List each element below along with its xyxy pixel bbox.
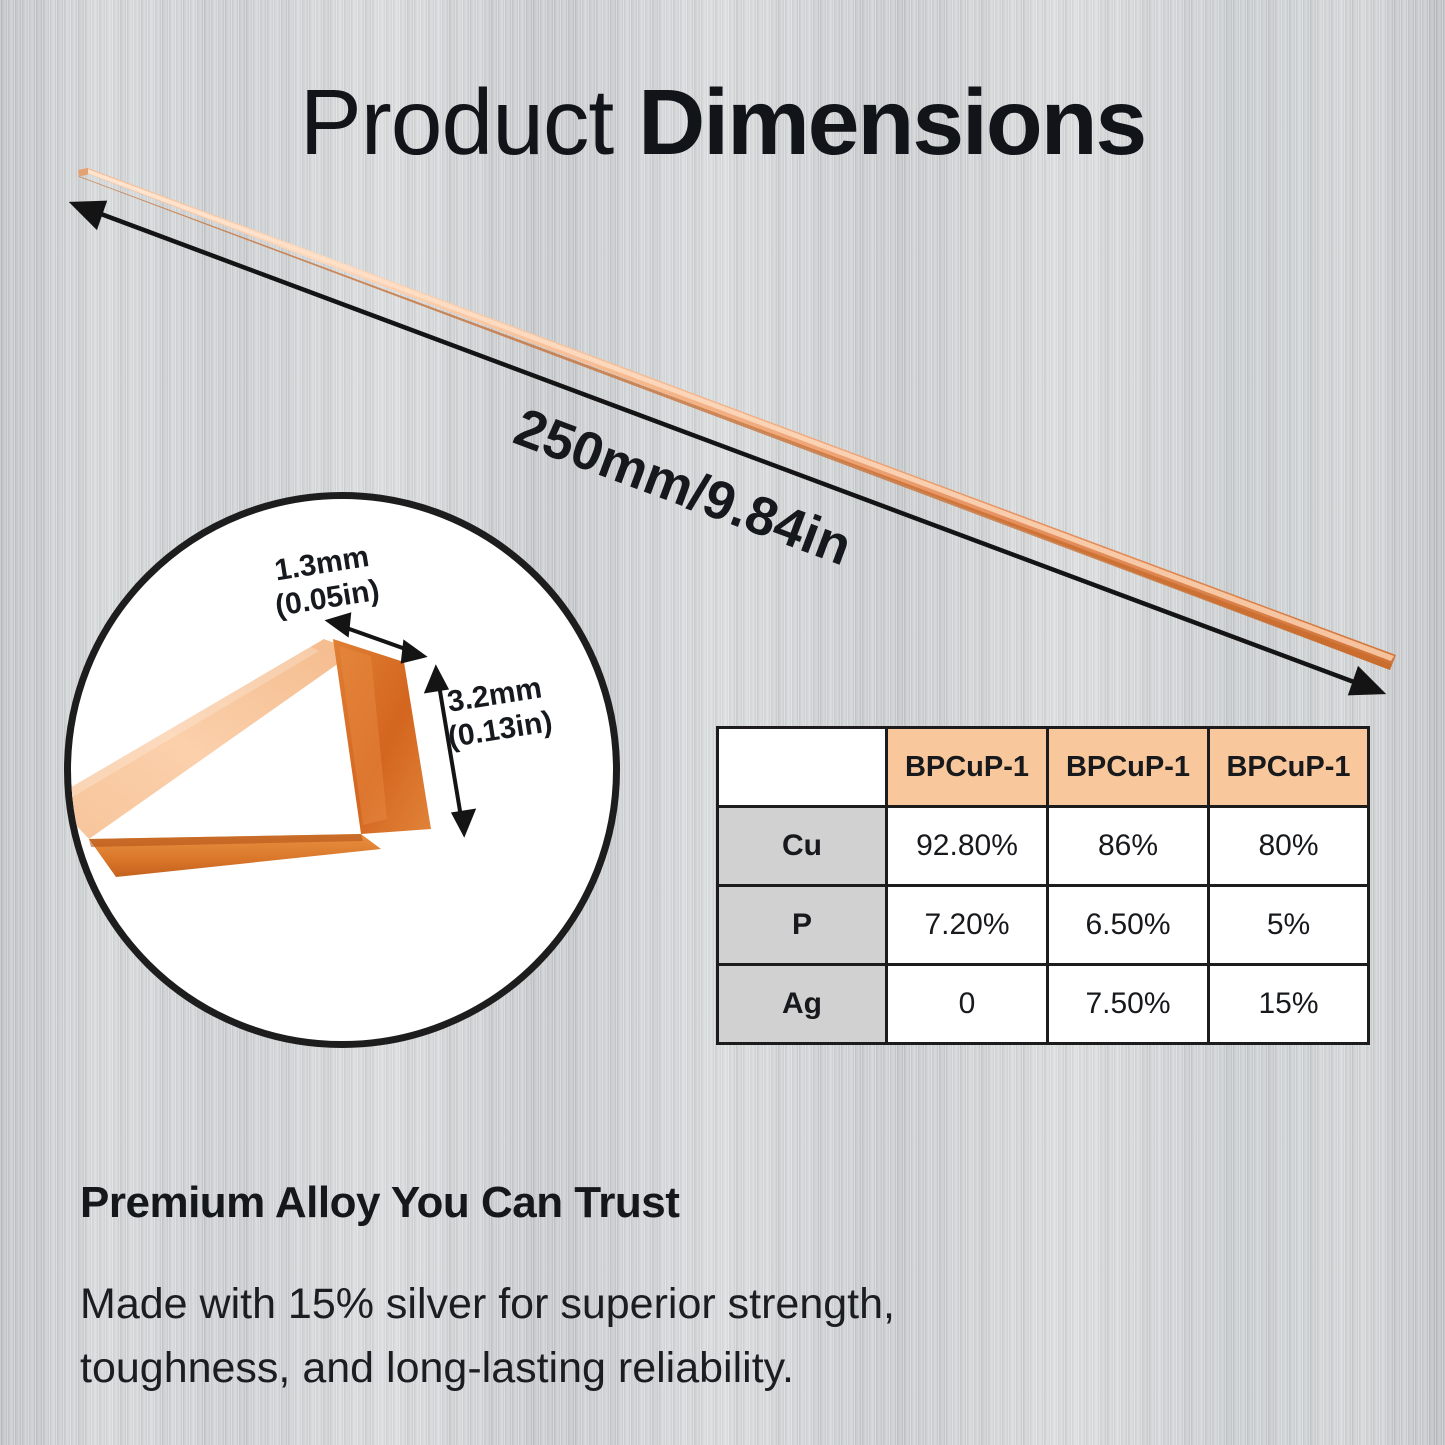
table-row: Ag 0 7.50% 15% xyxy=(718,965,1369,1044)
cell-ag-col3: 15% xyxy=(1209,965,1369,1044)
feature-body-line-1: Made with 15% silver for superior streng… xyxy=(80,1280,895,1328)
feature-heading: Premium Alloy You Can Trust xyxy=(80,1178,679,1228)
alloy-composition-table: BPCuP-1 BPCuP-1 BPCuP-1 Cu 92.80% 86% 80… xyxy=(716,726,1370,1045)
row-label-p: P xyxy=(718,886,887,965)
row-label-cu: Cu xyxy=(718,807,887,886)
cell-ag-col1: 0 xyxy=(887,965,1048,1044)
cell-cu-col2: 86% xyxy=(1048,807,1209,886)
cell-p-col1: 7.20% xyxy=(887,886,1048,965)
table-header-row: BPCuP-1 BPCuP-1 BPCuP-1 xyxy=(718,728,1369,807)
table-header-col-1: BPCuP-1 xyxy=(887,728,1048,807)
feature-body-line-2: toughness, and long-lasting reliability. xyxy=(80,1336,1080,1400)
page-title: Product Dimensions xyxy=(0,72,1445,172)
cell-p-col2: 6.50% xyxy=(1048,886,1209,965)
table-row: Cu 92.80% 86% 80% xyxy=(718,807,1369,886)
cell-ag-col2: 7.50% xyxy=(1048,965,1209,1044)
cell-cu-col3: 80% xyxy=(1209,807,1369,886)
table-header-col-3: BPCuP-1 xyxy=(1209,728,1369,807)
table-row: P 7.20% 6.50% 5% xyxy=(718,886,1369,965)
table-header-col-2: BPCuP-1 xyxy=(1048,728,1209,807)
page-title-light: Product xyxy=(300,70,638,174)
table-corner-cell xyxy=(718,728,887,807)
feature-body: Made with 15% silver for superior streng… xyxy=(80,1272,1080,1400)
row-label-ag: Ag xyxy=(718,965,887,1044)
cell-p-col3: 5% xyxy=(1209,886,1369,965)
product-dimensions-infographic: Product Dimensions xyxy=(0,0,1445,1445)
page-title-bold: Dimensions xyxy=(638,70,1145,174)
cell-cu-col1: 92.80% xyxy=(887,807,1048,886)
